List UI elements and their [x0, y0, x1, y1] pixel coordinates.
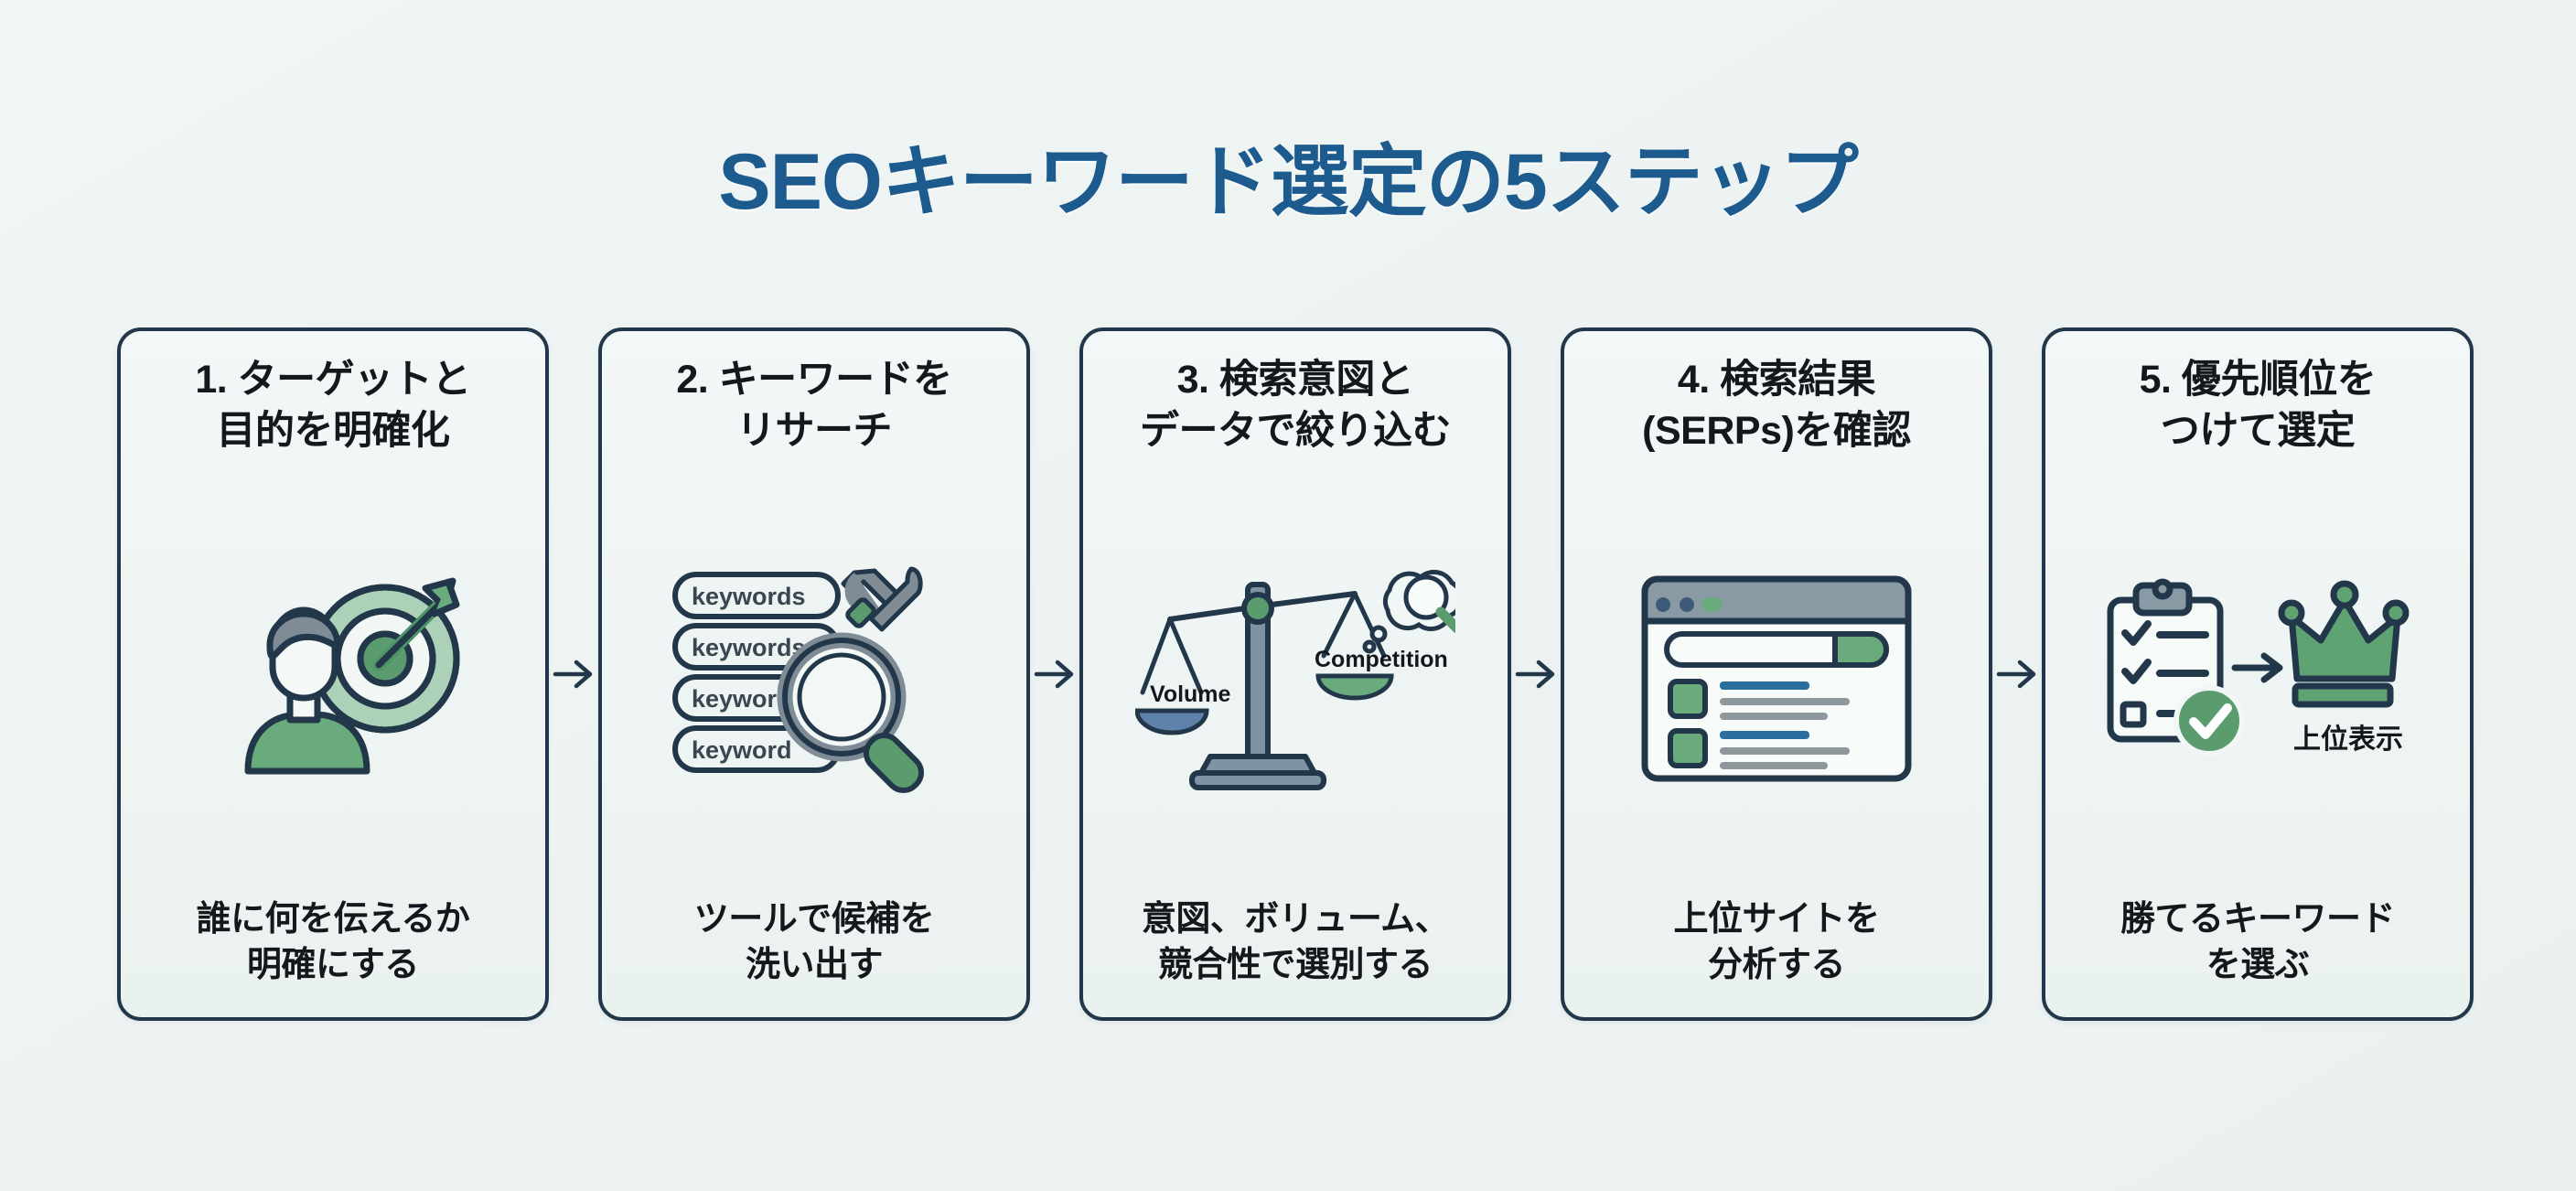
step-card-3[interactable]: 3. 検索意図と データで絞り込む — [1079, 327, 1511, 1021]
step-2-description: ツールで候補を 洗い出す — [615, 896, 1014, 995]
step-1-icon-area — [134, 457, 532, 896]
step-4-title-line2: (SERPs)を確認 — [1577, 406, 1976, 457]
step-2-title: 2. キーワードを リサーチ — [615, 355, 1014, 457]
step-2-desc-line1: ツールで候補を — [615, 896, 1014, 942]
keyword-pill-label-3: keywor — [692, 685, 778, 713]
check-badge-icon — [2176, 688, 2242, 754]
keyword-pill-label-1: keywords — [692, 583, 806, 610]
arrow-right-icon — [1515, 658, 1557, 691]
step-4-icon-area — [1577, 457, 1976, 896]
arrow-right-icon — [553, 658, 595, 691]
window-dot-2 — [1680, 597, 1694, 612]
step-5-title-line2: つけて選定 — [2058, 406, 2457, 457]
search-bar — [1667, 634, 1886, 665]
thought-bubble-magnifier-icon — [1365, 572, 1455, 651]
arrow-right-icon — [2235, 656, 2280, 680]
step-5-title-line1: 5. 優先順位を — [2058, 355, 2457, 406]
step-card-5[interactable]: 5. 優先順位を つけて選定 — [2042, 327, 2474, 1021]
connector-3-4 — [1511, 327, 1561, 1021]
arrow-right-icon — [1996, 658, 2038, 691]
browser-serp-window-icon — [1639, 574, 1914, 784]
tools-icon — [843, 569, 920, 629]
steps-row: 1. ターゲットと 目的を明確化 — [117, 327, 2470, 1021]
step-4-title-line1: 4. 検索結果 — [1577, 355, 1976, 406]
keyword-pill-label-2: keywords — [692, 634, 806, 661]
window-dot-1 — [1656, 597, 1670, 612]
step-1-desc-line2: 明確にする — [134, 942, 532, 988]
connector-1-2 — [549, 327, 598, 1021]
step-4-description: 上位サイトを 分析する — [1577, 896, 1976, 995]
step-3-title: 3. 検索意図と データで絞り込む — [1096, 355, 1495, 457]
step-1-description: 誰に何を伝えるか 明確にする — [134, 896, 532, 995]
scale-right-label: Competition — [1315, 647, 1448, 672]
step-3-desc-line2: 競合性で選別する — [1096, 942, 1495, 988]
keyword-list-with-magnifier-icon: keywords keywords keywor keyword — [659, 562, 970, 795]
step-5-title: 5. 優先順位を つけて選定 — [2058, 355, 2457, 457]
step-4-desc-line2: 分析する — [1577, 942, 1976, 988]
keyword-pill-label-4: keyword — [692, 736, 792, 764]
step-card-2[interactable]: 2. キーワードを リサーチ keywords keywords keywor — [598, 327, 1030, 1021]
scale-left-label: Volume — [1150, 681, 1231, 707]
arrow-right-icon — [1034, 658, 1076, 691]
step-2-title-line2: リサーチ — [615, 406, 1014, 457]
step-5-desc-line2: を選ぶ — [2058, 942, 2457, 988]
connector-4-5 — [1992, 327, 2042, 1021]
step-1-title-line1: 1. ターゲットと — [134, 355, 532, 406]
step-3-title-line1: 3. 検索意図と — [1096, 355, 1495, 406]
step-1-title: 1. ターゲットと 目的を明確化 — [134, 355, 532, 457]
step-card-1[interactable]: 1. ターゲットと 目的を明確化 — [117, 327, 549, 1021]
step-3-icon-area: Volume Competition — [1096, 457, 1495, 896]
step-1-desc-line1: 誰に何を伝えるか — [134, 896, 532, 942]
step-5-icon-area: 上位表示 — [2058, 457, 2457, 896]
step-3-description: 意図、ボリューム、 競合性で選別する — [1096, 896, 1495, 995]
person-with-target-icon — [182, 564, 484, 793]
crown-icon — [2281, 584, 2406, 704]
crown-label: 上位表示 — [2293, 724, 2403, 755]
step-5-description: 勝てるキーワード を選ぶ — [2058, 896, 2457, 995]
step-4-desc-line1: 上位サイトを — [1577, 896, 1976, 942]
window-dot-3 — [1701, 597, 1722, 612]
step-3-desc-line1: 意図、ボリューム、 — [1096, 896, 1495, 942]
step-card-4[interactable]: 4. 検索結果 (SERPs)を確認 — [1561, 327, 1992, 1021]
step-2-desc-line2: 洗い出す — [615, 942, 1014, 988]
infographic-canvas: SEOキーワード選定の5ステップ 1. ターゲットと 目的を明確化 — [0, 0, 2576, 1191]
step-4-title: 4. 検索結果 (SERPs)を確認 — [1577, 355, 1976, 457]
connector-2-3 — [1030, 327, 1079, 1021]
balance-scale-icon: Volume Competition — [1135, 564, 1455, 793]
step-2-title-line1: 2. キーワードを — [615, 355, 1014, 406]
step-2-icon-area: keywords keywords keywor keyword — [615, 457, 1014, 896]
checklist-to-crown-icon: 上位表示 — [2098, 569, 2418, 789]
page-title: SEOキーワード選定の5ステップ — [0, 117, 2576, 231]
step-1-title-line2: 目的を明確化 — [134, 406, 532, 457]
step-3-title-line2: データで絞り込む — [1096, 406, 1495, 457]
step-5-desc-line1: 勝てるキーワード — [2058, 896, 2457, 942]
